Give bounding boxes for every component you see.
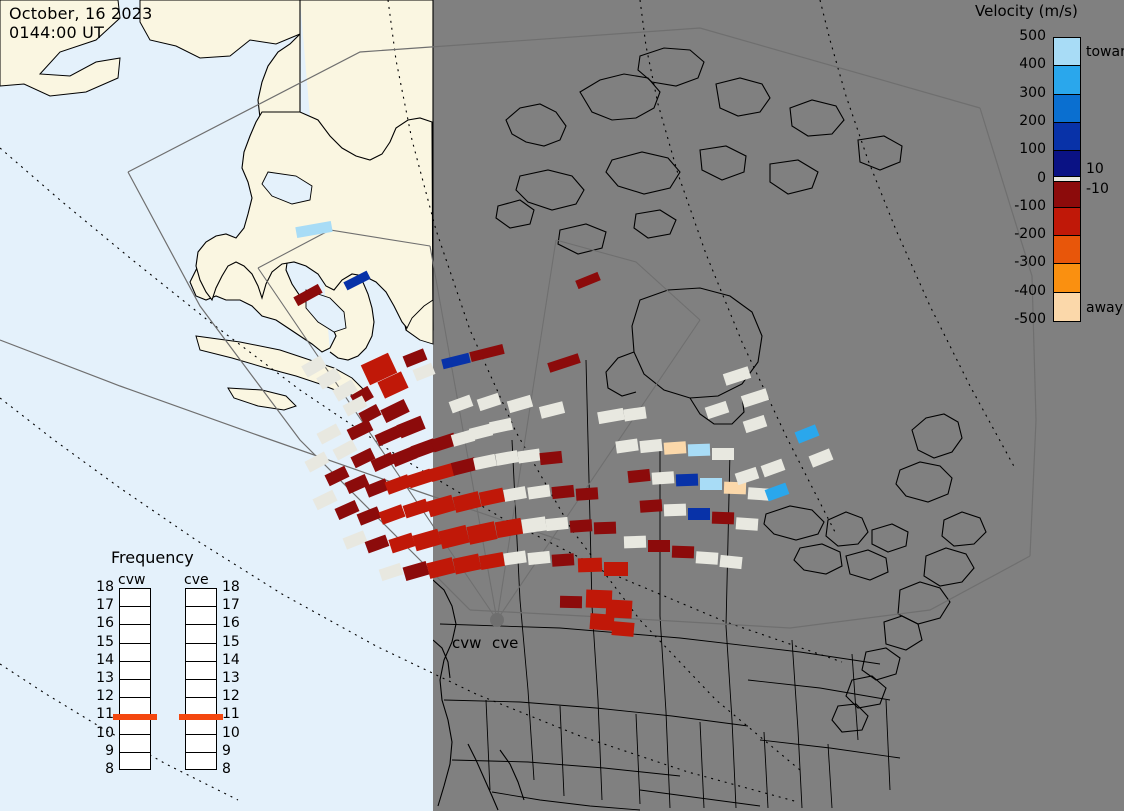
velocity-cell [380,399,410,423]
velocity-cell [403,348,428,367]
velocity-cell [712,448,734,460]
velocity-cell [527,551,550,565]
velocity-cell [357,506,382,525]
velocity-cell [688,444,710,457]
velocity-cell [466,521,497,544]
frequency-tick-cve-10: 10 [222,725,248,741]
velocity-cell [696,551,719,565]
velocity-cell [639,439,662,453]
velocity-cell [741,388,769,407]
velocity-cell [426,557,455,579]
velocity-cell [426,495,455,518]
velocity-cell [517,449,540,464]
velocity-cell [589,613,614,631]
velocity-cell [379,563,404,581]
velocity-cell [316,367,342,389]
frequency-bar-cve [185,588,217,770]
frequency-cell [186,625,216,643]
velocity-cell [664,441,687,455]
velocity-cell [477,393,502,411]
velocity-cell [705,401,730,419]
velocity-cell [664,504,686,517]
velocity-cell [479,488,505,507]
frequency-legend-title: Frequency [111,548,194,567]
velocity-cell [539,451,562,465]
velocity-cell [594,522,616,535]
frequency-marker-cve [179,714,223,720]
velocity-cell [335,500,360,520]
frequency-tick-cvw-10: 10 [88,725,114,741]
frequency-cell [120,753,150,771]
velocity-cell [575,272,601,289]
frequency-tick-cve-17: 17 [222,597,248,613]
velocity-cell [560,596,582,608]
frequency-cell [120,662,150,680]
velocity-cell [615,439,638,454]
velocity-cell [403,561,430,581]
velocity-cell [719,555,742,569]
velocity-cell [521,516,547,533]
velocity-cell [301,355,327,377]
velocity-cell [723,366,751,385]
velocity-cell [539,401,565,418]
velocity-cell [412,363,435,382]
velocity-cell [503,486,527,502]
velocity-cell [547,353,581,372]
frequency-tick-cvw-18: 18 [88,579,114,595]
velocity-cell [365,535,390,554]
frequency-cell [186,662,216,680]
timestamp: October, 16 20230144:00 UT [9,4,153,42]
frequency-cell [186,735,216,753]
velocity-cell [479,552,505,570]
velocity-cell [611,621,634,637]
frequency-tick-cvw-14: 14 [88,652,114,668]
velocity-cell [627,469,650,483]
velocity-cell [469,424,493,441]
frequency-tick-cvw-16: 16 [88,615,114,631]
velocity-cell [312,490,337,510]
frequency-cell [120,625,150,643]
frequency-cell [120,589,150,607]
velocity-cell [735,467,760,485]
velocity-cell [449,395,474,414]
frequency-tick-cvw-13: 13 [88,670,114,686]
frequency-column-name-cve: cve [184,572,209,588]
velocity-cell [743,415,768,433]
velocity-cell [648,540,670,552]
superdarn-velocity-map: October, 16 20230144:00 UT cvw cve Veloc… [0,0,1124,811]
frequency-cell [120,680,150,698]
velocity-cell [495,518,523,538]
velocity-cell [736,517,759,531]
velocity-scatter-layer [0,0,1124,811]
velocity-cell [640,499,663,513]
frequency-tick-cve-14: 14 [222,652,248,668]
velocity-cell [604,562,628,576]
velocity-cell [597,408,625,424]
velocity-cell [295,221,332,238]
frequency-marker-cvw [113,714,157,720]
velocity-cell [672,546,694,559]
frequency-tick-cvw-15: 15 [88,634,114,650]
frequency-cell [186,644,216,662]
velocity-cell [623,407,646,422]
velocity-cell [293,284,322,306]
frequency-tick-cve-13: 13 [222,670,248,686]
velocity-cell [441,353,471,369]
frequency-tick-cvw-9: 9 [88,743,114,759]
frequency-tick-cvw-12: 12 [88,688,114,704]
frequency-tick-cvw-11: 11 [88,706,114,722]
velocity-cell [578,558,602,573]
velocity-cell [453,553,482,574]
velocity-cell [343,271,370,291]
frequency-tick-cve-15: 15 [222,634,248,650]
velocity-cell [396,416,425,439]
velocity-cell [688,508,710,520]
velocity-cell [765,483,790,502]
velocity-cell [403,499,430,519]
velocity-cell [545,517,568,531]
map-site-label-cvw: cvw [452,634,481,652]
velocity-cell [489,418,513,434]
velocity-cell [452,491,481,513]
velocity-cell [412,529,441,552]
velocity-cell [347,419,374,440]
velocity-cell [343,530,368,549]
frequency-tick-cvw-8: 8 [88,761,114,777]
frequency-bar-cvw [119,588,151,770]
frequency-cell [186,589,216,607]
velocity-cell [624,536,646,549]
frequency-tick-cve-8: 8 [222,761,248,777]
frequency-tick-cve-9: 9 [222,743,248,759]
frequency-tick-cvw-17: 17 [88,597,114,613]
frequency-cell [120,607,150,625]
velocity-cell [379,504,406,524]
frequency-cell [186,680,216,698]
map-site-label-cve: cve [492,634,518,652]
velocity-cell [451,457,477,475]
frequency-column-name-cvw: cvw [118,572,145,588]
frequency-tick-cve-11: 11 [222,706,248,722]
frequency-cell [186,753,216,771]
velocity-cell [809,448,834,467]
velocity-cell [761,459,786,478]
date-text: October, 16 2023 [9,4,153,23]
velocity-cell [527,485,550,500]
frequency-cell [186,607,216,625]
frequency-tick-cve-18: 18 [222,579,248,595]
velocity-cell [473,454,497,470]
velocity-cell [507,395,533,413]
velocity-cell [429,463,456,482]
velocity-cell [503,551,526,566]
frequency-cell [120,735,150,753]
time-text: 0144:00 UT [9,23,104,42]
frequency-cell [120,644,150,662]
velocity-cell [469,344,504,362]
velocity-cell [551,485,574,499]
velocity-cell [316,424,341,445]
velocity-cell [304,452,329,473]
velocity-cell [700,478,722,490]
frequency-tick-cve-12: 12 [222,688,248,704]
velocity-cell [676,474,698,487]
velocity-cell [365,478,390,497]
velocity-cell [795,424,820,443]
velocity-cell [712,512,734,525]
velocity-cell [570,519,593,533]
velocity-cell [576,487,599,501]
velocity-cell [375,426,402,447]
frequency-tick-cve-16: 16 [222,615,248,631]
velocity-cell [652,471,675,485]
velocity-cell [438,525,470,549]
velocity-cell [552,553,575,567]
velocity-cell [495,450,519,466]
velocity-cell [388,533,415,554]
